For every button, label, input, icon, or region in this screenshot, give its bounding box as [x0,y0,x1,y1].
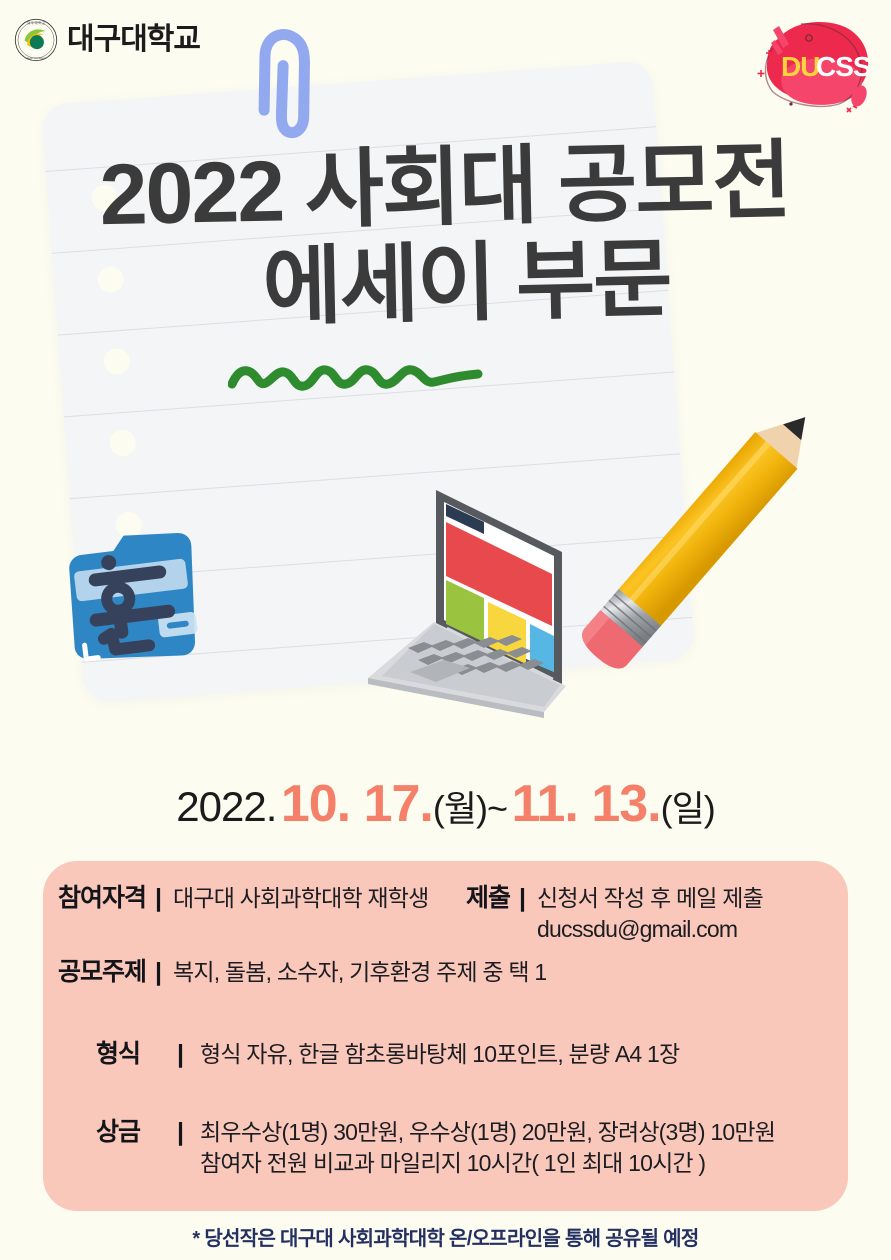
info-value-topic: 복지, 돌봄, 소수자, 기후환경 주제 중 택 1 [173,957,546,988]
pencil-icon [548,380,872,710]
info-label-prize: 상금 [79,1117,157,1148]
info-value-submit: 신청서 작성 후 메일 제출 [537,885,763,911]
info-label-format: 형식 [79,1039,157,1070]
poster-canvas: 대 구 대 학 교 DAEGU UNIVERSITY 대구대학교 [0,0,891,1260]
date-year: 2022. [176,783,276,830]
info-row-submit: 제출 | 신청서 작성 후 메일 제출 ducssdu@gmail.com [466,883,763,945]
info-row-topic: 공모주제 | 복지, 돌봄, 소수자, 기후환경 주제 중 택 1 [58,957,546,988]
info-row-prize: 상금 | 최우수상(1명) 30만원, 우수상(1명) 20만원, 장려상(3명… [79,1117,775,1179]
info-separator: | [146,957,173,988]
info-value-prize-mileage: 참여자 전원 비교과 마일리지 10시간( 1인 최대 10시간 ) [200,1148,775,1179]
date-start: 10. 17. [281,775,433,833]
date-start-weekday: (월)~ [433,788,507,829]
date-end: 11. 13. [511,775,660,833]
info-row-qualification: 참여자격 | 대구대 사회과학대학 재학생 [58,883,429,914]
university-seal-icon: 대 구 대 학 교 DAEGU UNIVERSITY [14,18,58,62]
poster-title: 2022 사회대 공모전 에세이 부문 [0,131,891,342]
svg-text:대 구 대 학 교: 대 구 대 학 교 [27,20,45,25]
info-label-qualification: 참여자격 [58,883,146,914]
title-line-2: 에세이 부문 [0,227,891,342]
paperclip-icon [236,22,356,150]
footer-note: * 당선작은 대구대 사회과학대학 온/오프라인을 통해 공유될 예정 [0,1222,891,1251]
info-label-submit: 제출 [466,883,510,914]
info-row-format: 형식 | 형식 자유, 한글 함초롱바탕체 10포인트, 분량 A4 1장 [79,1039,679,1070]
university-name-label: 대구대학교 [67,25,200,55]
ducss-logo-du-text: DU [781,51,819,82]
info-separator: | [510,883,537,914]
title-line-1: 2022 사회대 공모전 [0,131,891,246]
info-separator: | [157,1117,200,1148]
ducss-logo-css-text: CSS [816,51,871,82]
date-end-weekday: (일) [661,788,715,829]
ducss-club-logo: DU CSS [743,4,883,122]
info-panel: 참여자격 | 대구대 사회과학대학 재학생 제출 | 신청서 작성 후 메일 제… [43,861,848,1211]
university-logo: 대 구 대 학 교 DAEGU UNIVERSITY 대구대학교 [14,18,200,62]
svg-text:DAEGU UNIVERSITY: DAEGU UNIVERSITY [25,57,47,60]
info-label-topic: 공모주제 [58,957,146,988]
blue-document-badge-icon [56,524,226,684]
info-value-prize: 최우수상(1명) 30만원, 우수상(1명) 20만원, 장려상(3명) 10만… [200,1119,775,1145]
info-value-qualification: 대구대 사회과학대학 재학생 [173,883,429,914]
event-date-line: 2022. 10. 17.(월)~ 11. 13.(일) [0,778,891,830]
info-value-format: 형식 자유, 한글 함초롱바탕체 10포인트, 분량 A4 1장 [200,1039,679,1070]
submit-email[interactable]: ducssdu@gmail.com [537,914,763,945]
green-squiggle-underline-icon [228,356,484,396]
info-separator: | [157,1039,200,1070]
info-separator: | [146,883,173,914]
